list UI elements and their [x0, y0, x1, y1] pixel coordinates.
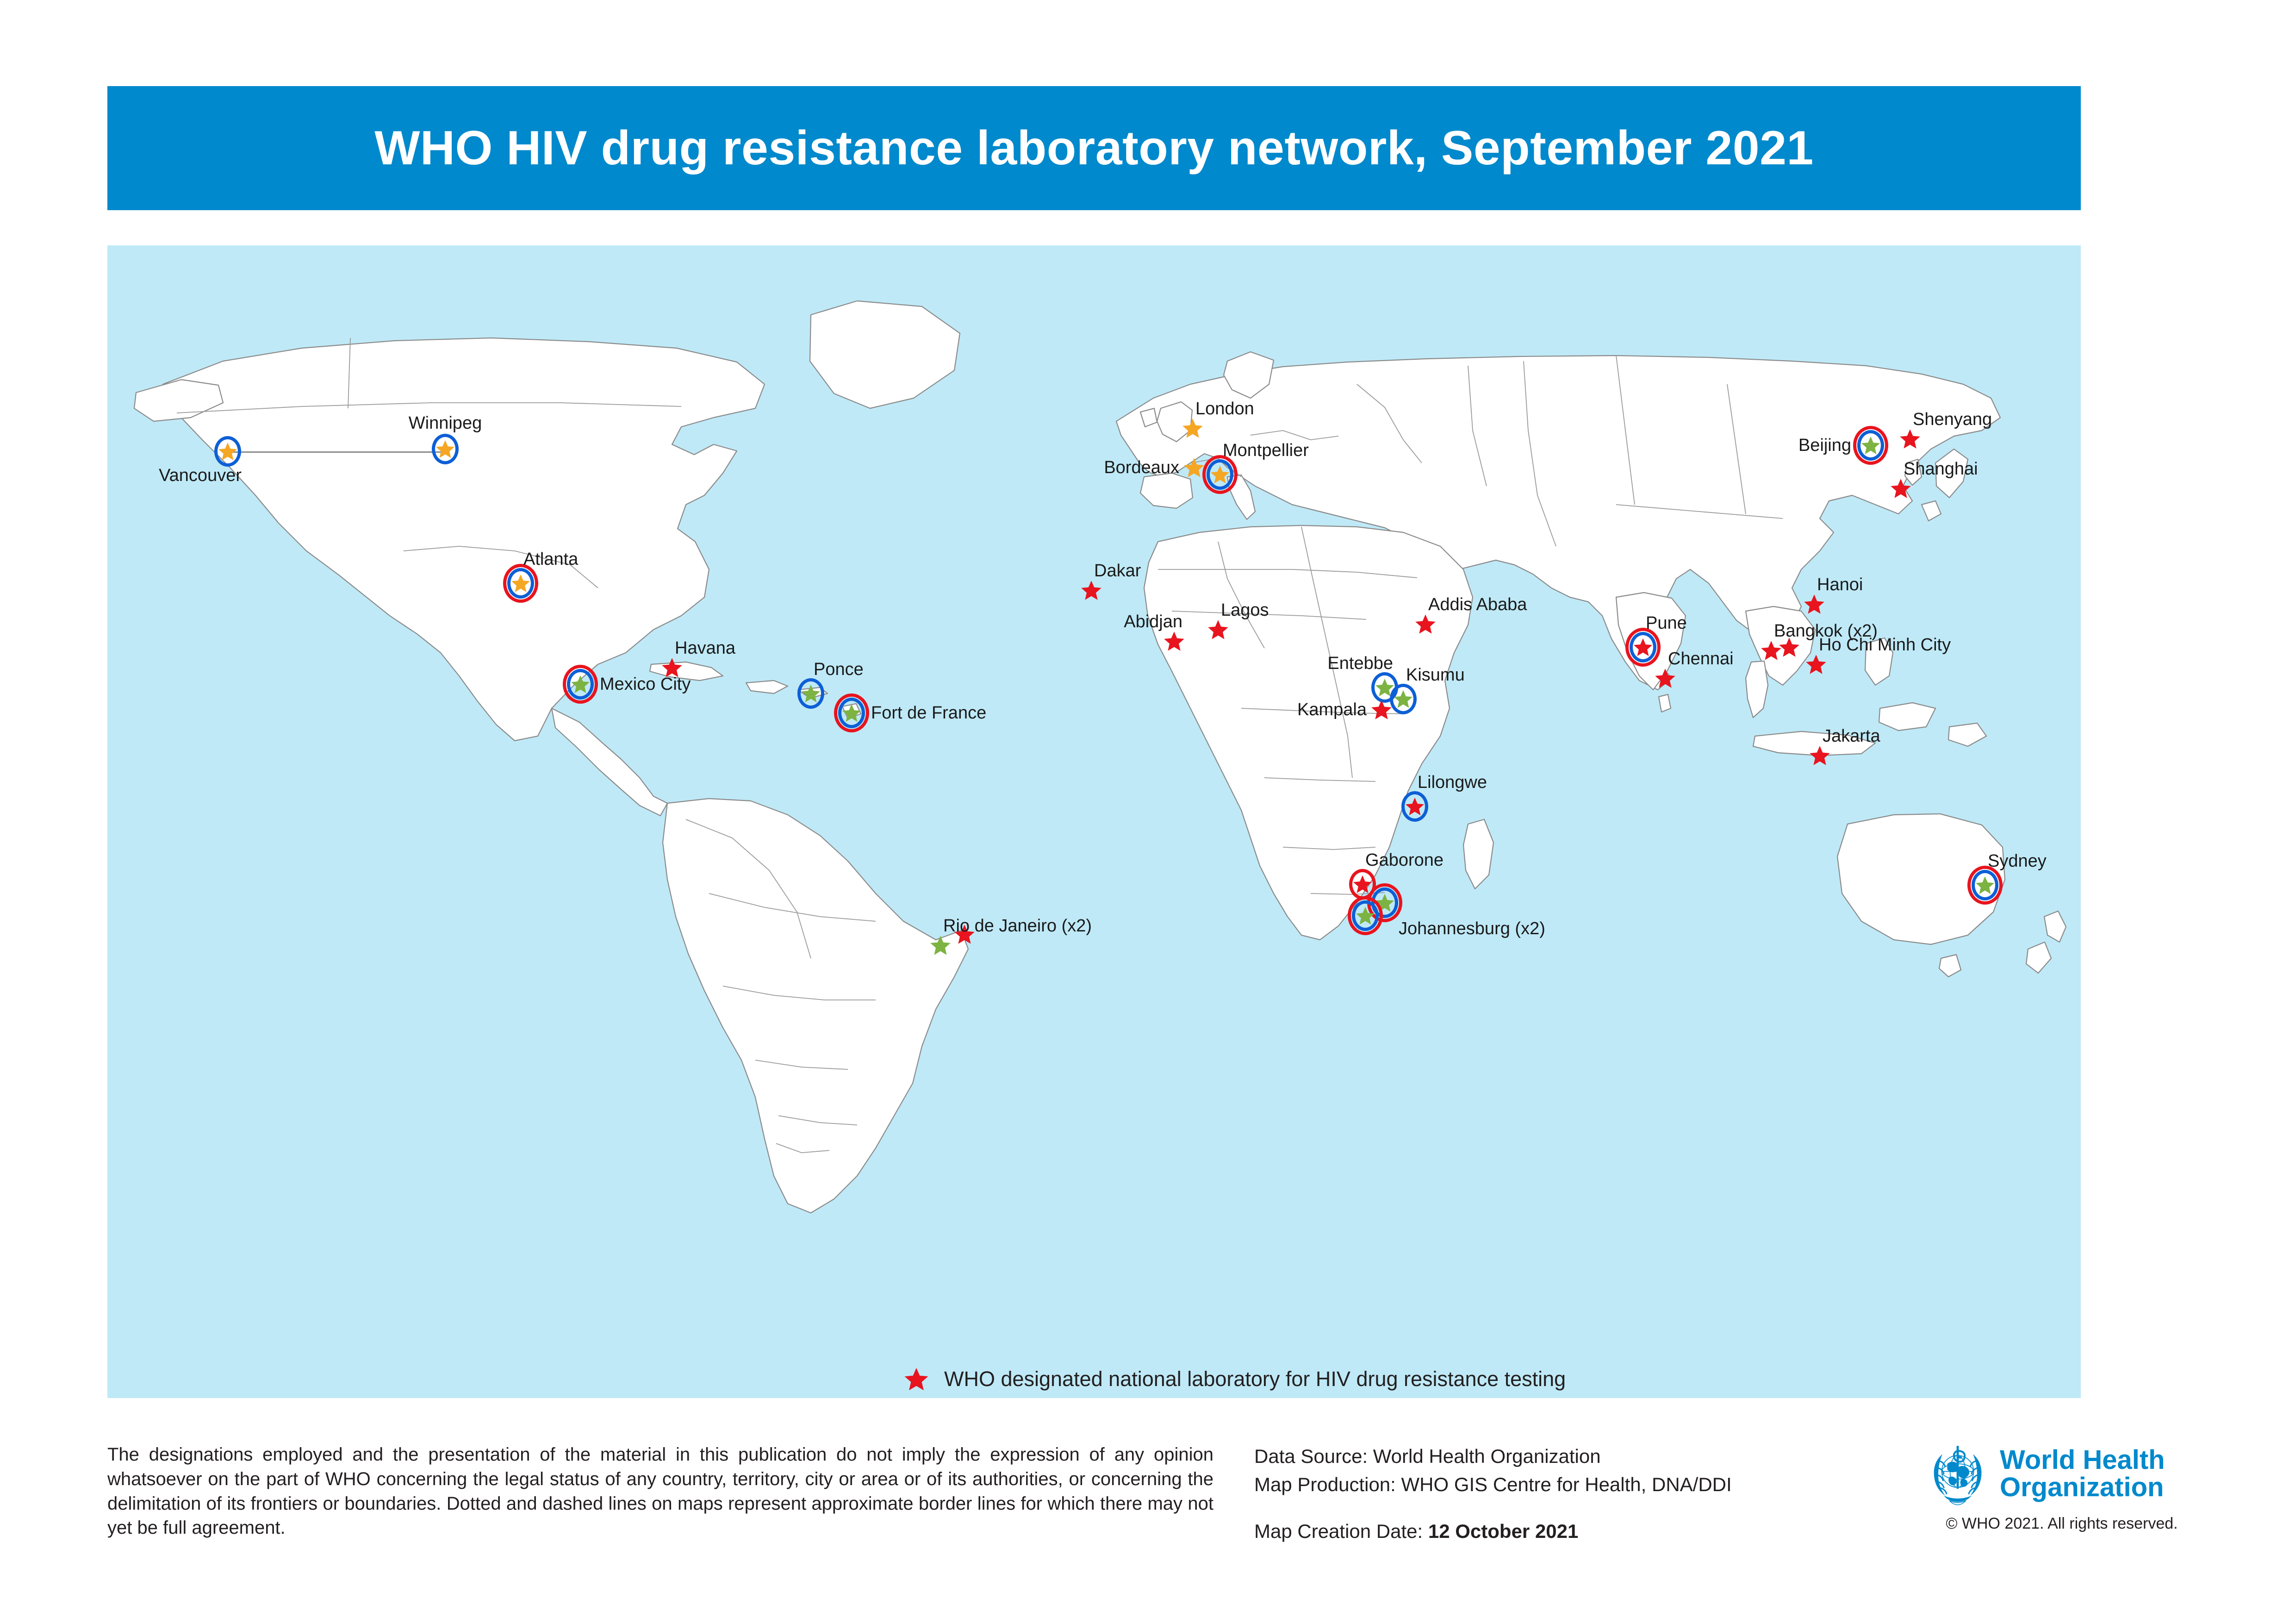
city-label-beijing: Beijing: [1798, 437, 1851, 454]
source-block: Data Source: World Health Organization M…: [1254, 1443, 1732, 1546]
who-logo-line1: World Health: [2000, 1446, 2165, 1474]
map-marker-shanghai[interactable]: [1890, 477, 1912, 500]
map-marker-rio-de-janeiro[interactable]: [929, 934, 952, 956]
map-marker-addis-ababa[interactable]: [1414, 613, 1437, 635]
legend: WHO designated national laboratory for H…: [899, 1361, 1697, 1398]
map-marker-kisumu[interactable]: [1393, 689, 1413, 709]
map-marker-abidjan[interactable]: [1163, 630, 1185, 652]
map-marker-vancouver[interactable]: [218, 441, 238, 462]
map-creation-label: Map Creation Date:: [1254, 1520, 1428, 1542]
map-marker-london[interactable]: [1182, 417, 1204, 439]
green-star-icon: [570, 674, 591, 694]
city-label-kampala: Kampala: [1297, 701, 1367, 718]
map-marker-hanoi[interactable]: [1803, 593, 1825, 615]
city-label-lagos: Lagos: [1221, 601, 1269, 619]
red-star-icon: [1899, 428, 1921, 450]
red-star-icon: [1080, 579, 1102, 601]
city-label-lilongwe: Lilongwe: [1418, 774, 1487, 791]
map-marker-johannesburg-2[interactable]: [1355, 906, 1375, 926]
city-label-pune: Pune: [1646, 614, 1687, 632]
city-label-fort-de-france: Fort de France: [871, 704, 986, 722]
legend-label-national: WHO designated national laboratory for H…: [944, 1367, 1566, 1391]
city-label-chennai: Chennai: [1668, 650, 1734, 668]
city-label-havana: Havana: [675, 639, 735, 657]
city-label-ho-chi-minh-city: Ho Chi Minh City: [1819, 636, 1951, 654]
city-label-jakarta: Jakarta: [1823, 727, 1880, 745]
green-star-icon: [1975, 875, 1995, 895]
red-star-icon: [1405, 796, 1425, 817]
red-star-icon: [899, 1362, 934, 1397]
red-star-icon: [1352, 874, 1373, 894]
map-marker-bordeaux[interactable]: [1183, 456, 1205, 479]
city-label-vancouver: Vancouver: [159, 467, 242, 484]
green-star-icon: [1355, 906, 1375, 926]
orange-star-icon: [510, 573, 531, 593]
who-logo-line2: Organization: [2000, 1474, 2165, 1501]
city-label-dakar: Dakar: [1094, 562, 1141, 580]
map-marker-ponce[interactable]: [801, 683, 821, 704]
map-marker-ho-chi-minh-city[interactable]: [1805, 653, 1827, 675]
map-creation-date: 12 October 2021: [1428, 1520, 1579, 1542]
map-marker-atlanta[interactable]: [510, 573, 531, 593]
city-label-atlanta: Atlanta: [523, 550, 578, 568]
copyright-text: © WHO 2021. All rights reserved.: [1923, 1515, 2201, 1533]
map-marker-winnipeg[interactable]: [435, 439, 455, 459]
city-label-bordeaux: Bordeaux: [1104, 459, 1179, 476]
city-label-winnipeg: Winnipeg: [409, 414, 482, 432]
map-marker-shenyang[interactable]: [1899, 428, 1921, 450]
city-label-sydney: Sydney: [1988, 852, 2047, 870]
red-star-icon: [1370, 699, 1393, 721]
footer: The designations employed and the presen…: [0, 1417, 2296, 1624]
orange-star-icon: [1183, 456, 1205, 479]
city-label-montpellier: Montpellier: [1223, 442, 1309, 459]
orange-star-icon: [1182, 417, 1204, 439]
map-marker-lilongwe[interactable]: [1405, 796, 1425, 817]
who-logo-block: World Health Organization © WHO 2021. Al…: [1923, 1439, 2201, 1533]
who-emblem-icon: [1923, 1439, 1992, 1508]
red-star-icon: [1805, 653, 1827, 675]
world-basemap: [107, 245, 2081, 1398]
data-source-line: Data Source: World Health Organization: [1254, 1443, 1732, 1471]
map-marker-kampala[interactable]: [1370, 699, 1393, 721]
map-marker-chennai[interactable]: [1654, 667, 1676, 689]
world-map[interactable]: VancouverWinnipegAtlantaMexico CityHavan…: [107, 245, 2081, 1398]
map-marker-gaborone[interactable]: [1352, 874, 1373, 894]
map-marker-beijing[interactable]: [1860, 435, 1881, 456]
map-marker-fort-de-france[interactable]: [841, 703, 862, 723]
map-marker-mexico-city[interactable]: [570, 674, 591, 694]
city-label-entebbe: Entebbe: [1327, 655, 1393, 672]
city-label-gaborone: Gaborone: [1365, 851, 1444, 869]
red-star-icon: [1890, 477, 1912, 500]
legend-item-regional[interactable]: WHO designated regional laboratory for H…: [899, 1397, 1697, 1398]
red-star-icon: [1414, 613, 1437, 635]
map-marker-montpellier[interactable]: [1210, 464, 1230, 485]
city-label-hanoi: Hanoi: [1817, 576, 1863, 593]
map-marker-jakarta[interactable]: [1809, 744, 1831, 767]
green-star-icon: [929, 934, 952, 956]
city-label-addis-ababa: Addis Ababa: [1428, 596, 1527, 613]
red-star-icon: [1809, 744, 1831, 767]
map-creation-line: Map Creation Date: 12 October 2021: [1254, 1518, 1732, 1546]
city-label-johannesburg-1: Johannesburg (x2): [1399, 920, 1545, 937]
green-star-icon: [899, 1398, 934, 1398]
map-production-line: Map Production: WHO GIS Centre for Healt…: [1254, 1471, 1732, 1499]
map-marker-dakar[interactable]: [1080, 579, 1102, 601]
city-label-ponce: Ponce: [814, 661, 864, 678]
red-star-icon: [1654, 667, 1676, 689]
city-label-kisumu: Kisumu: [1406, 666, 1465, 684]
map-marker-sydney[interactable]: [1975, 875, 1995, 895]
red-star-icon: [1803, 593, 1825, 615]
city-label-shanghai: Shanghai: [1904, 460, 1978, 478]
page-title: WHO HIV drug resistance laboratory netwo…: [374, 121, 1814, 176]
red-star-icon: [1633, 637, 1653, 657]
city-label-abidjan: Abidjan: [1124, 613, 1182, 631]
city-label-mexico-city: Mexico City: [600, 675, 691, 693]
map-marker-pune[interactable]: [1633, 637, 1653, 657]
header-bar: WHO HIV drug resistance laboratory netwo…: [107, 86, 2081, 210]
city-label-rio-de-janeiro: Rio de Janeiro (x2): [943, 917, 1092, 935]
green-star-icon: [801, 683, 821, 704]
orange-star-icon: [435, 439, 455, 459]
city-label-shenyang: Shenyang: [1913, 411, 1992, 428]
red-star-icon: [1163, 630, 1185, 652]
map-marker-lagos[interactable]: [1207, 618, 1229, 641]
green-star-icon: [841, 703, 862, 723]
vancouver-winnipeg-connector: [228, 451, 445, 453]
orange-star-icon: [1210, 464, 1230, 485]
city-label-london: London: [1195, 400, 1254, 418]
green-star-icon: [1860, 435, 1881, 456]
orange-star-icon: [218, 441, 238, 462]
red-star-icon: [1207, 618, 1229, 641]
disclaimer-text: The designations employed and the presen…: [107, 1443, 1213, 1540]
legend-item-national[interactable]: WHO designated national laboratory for H…: [899, 1361, 1697, 1397]
green-star-icon: [1393, 689, 1413, 709]
